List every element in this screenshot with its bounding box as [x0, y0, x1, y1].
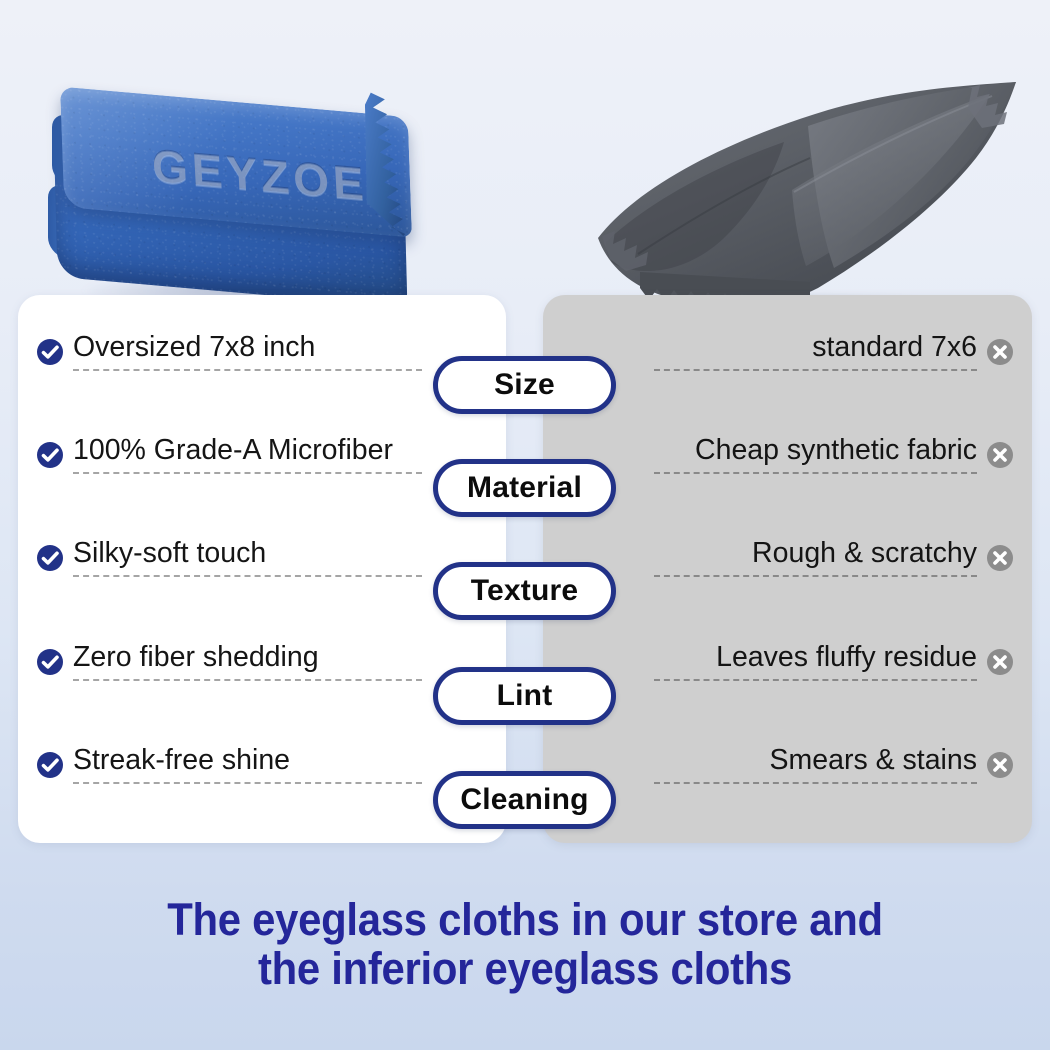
- blue-cloth-pinked-edge-right: [365, 83, 446, 244]
- attribute-label: Texture: [471, 574, 579, 608]
- bad-value: Cheap synthetic fabric: [654, 436, 977, 465]
- x-circle-icon: [986, 338, 1014, 366]
- row-underline: [654, 782, 977, 784]
- x-circle-icon: [986, 441, 1014, 469]
- good-cell: Silky-soft touch: [36, 539, 422, 577]
- good-value: Zero fiber shedding: [73, 643, 422, 672]
- attribute-pill-cleaning: Cleaning: [433, 771, 616, 829]
- x-circle-icon: [986, 751, 1014, 779]
- good-value: Streak-free shine: [73, 746, 422, 775]
- bad-value: Smears & stains: [654, 746, 977, 775]
- good-cell: Zero fiber shedding: [36, 643, 422, 681]
- x-circle-icon: [986, 648, 1014, 676]
- attribute-pill-size: Size: [433, 356, 616, 414]
- blue-microfiber-cloth-image: GEYZOE: [48, 62, 438, 322]
- gray-cloth-image: [578, 66, 1028, 316]
- row-underline: [654, 679, 977, 681]
- check-circle-icon: [36, 751, 64, 779]
- attribute-label: Cleaning: [460, 783, 588, 817]
- good-cell: Oversized 7x8 inch: [36, 333, 422, 371]
- caption: The eyeglass cloths in our store and the…: [37, 895, 1014, 993]
- bad-value: Rough & scratchy: [654, 539, 977, 568]
- bad-value: Leaves fluffy residue: [654, 643, 977, 672]
- x-circle-icon: [986, 544, 1014, 572]
- check-circle-icon: [36, 648, 64, 676]
- check-circle-icon: [36, 544, 64, 572]
- check-circle-icon: [36, 441, 64, 469]
- good-cell: 100% Grade-A Microfiber: [36, 436, 422, 474]
- caption-line-1: The eyeglass cloths in our store and: [37, 895, 1014, 944]
- row-underline: [73, 575, 422, 577]
- bad-cell: Leaves fluffy residue: [654, 643, 1014, 681]
- attribute-label: Lint: [497, 679, 553, 713]
- attribute-pill-material: Material: [433, 459, 616, 517]
- attribute-pill-texture: Texture: [433, 562, 616, 620]
- row-underline: [73, 472, 422, 474]
- gray-cloth-svg: [578, 66, 1028, 316]
- row-underline: [73, 782, 422, 784]
- good-cell: Streak-free shine: [36, 746, 422, 784]
- row-underline: [73, 369, 422, 371]
- good-value: Oversized 7x8 inch: [73, 333, 422, 362]
- bad-value: standard 7x6: [654, 333, 977, 362]
- row-underline: [654, 369, 977, 371]
- attribute-label: Material: [467, 471, 582, 505]
- row-underline: [654, 575, 977, 577]
- comparison-table: Oversized 7x8 inch standard 7x6: [0, 295, 1050, 845]
- bad-cell: Rough & scratchy: [654, 539, 1014, 577]
- good-value: 100% Grade-A Microfiber: [73, 436, 422, 465]
- caption-line-2: the inferior eyeglass cloths: [37, 944, 1014, 993]
- check-circle-icon: [36, 338, 64, 366]
- row-underline: [73, 679, 422, 681]
- bad-cell: Smears & stains: [654, 746, 1014, 784]
- attribute-pill-lint: Lint: [433, 667, 616, 725]
- row-underline: [654, 472, 977, 474]
- good-value: Silky-soft touch: [73, 539, 422, 568]
- bad-cell: Cheap synthetic fabric: [654, 436, 1014, 474]
- attribute-label: Size: [494, 368, 555, 402]
- hero-product-images: GEYZOE: [0, 0, 1050, 330]
- bad-cell: standard 7x6: [654, 333, 1014, 371]
